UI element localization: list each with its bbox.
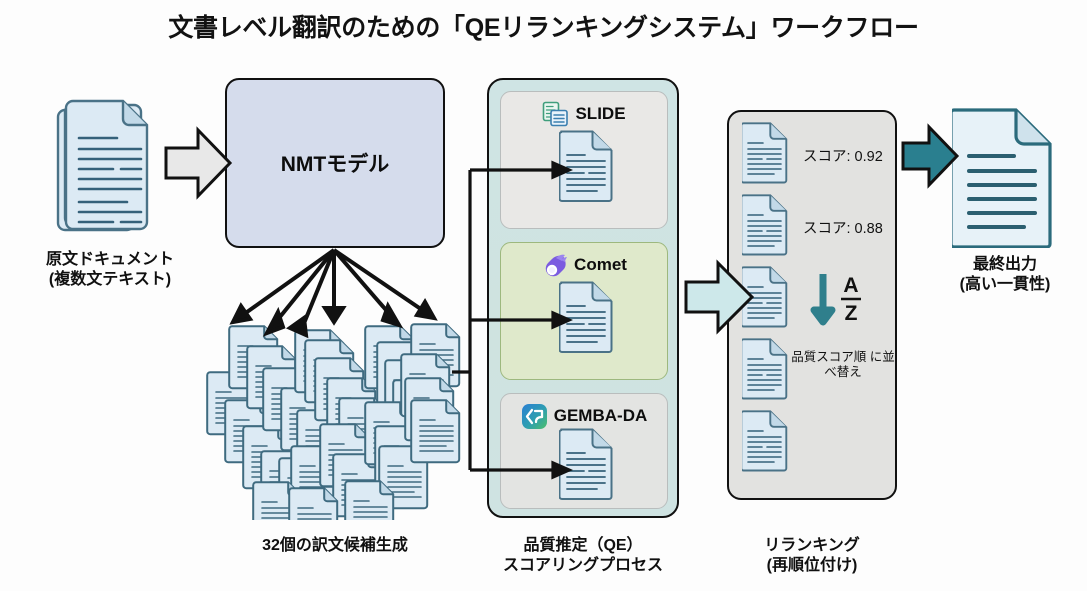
diagram-canvas: 文書レベル翻訳のための「QEリランキングシステム」ワークフロー (0, 0, 1087, 591)
candidates-caption: 32個の訳文候補生成 (215, 536, 455, 556)
sort-az-descending-icon: A Z (807, 270, 877, 348)
qe-metric-comet[interactable]: Comet (500, 242, 668, 380)
qe-scoring-panel: SLIDE (487, 78, 679, 518)
qe-metric-slide-label: SLIDE (575, 104, 625, 124)
svg-text:A: A (843, 274, 858, 297)
qe-metric-slide[interactable]: SLIDE (500, 91, 668, 229)
qe-metric-gemba-da-label: GEMBA-DA (554, 406, 648, 426)
rerank-document (742, 338, 788, 400)
gemba-code-icon (521, 403, 548, 430)
page-title: 文書レベル翻訳のための「QEリランキングシステム」ワークフロー (0, 8, 1087, 44)
rerank-caption: リランキング (再順位付け) (722, 536, 902, 576)
stacked-document-icon (55, 98, 160, 238)
rerank-document (742, 410, 788, 472)
final-document-icon (952, 108, 1052, 248)
gemba-scored-document (559, 428, 613, 500)
score-value-2: スコア: 0.88 (803, 217, 883, 238)
svg-text:Z: Z (845, 302, 858, 325)
arrow-source-to-nmt (166, 130, 230, 196)
qe-metric-gemba-da[interactable]: GEMBA-DA (500, 393, 668, 509)
reranking-panel: スコア: 0.92 スコア: 0.88 A Z 品質スコア順 に並べ替え (727, 110, 897, 500)
slide-scored-document (559, 130, 613, 202)
rerank-document (742, 122, 788, 184)
comet-icon (541, 252, 568, 279)
slide-documents-icon (542, 101, 569, 128)
score-value-1: スコア: 0.92 (803, 145, 883, 166)
arrow-rerank-to-output (903, 127, 957, 185)
final-output-caption: 最終出力 (高い一貫性) (930, 255, 1080, 295)
nmt-model-label: NMTモデル (281, 148, 390, 178)
qe-panel-caption: 品質推定（QE） スコアリングプロセス (478, 536, 688, 576)
source-document-caption: 原文ドキュメント (複数文テキスト) (15, 250, 205, 290)
rerank-document (742, 266, 788, 328)
comet-scored-document (559, 281, 613, 353)
nmt-model-box[interactable]: NMTモデル (225, 78, 445, 248)
sort-note-label: 品質スコア順 に並べ替え (791, 350, 895, 380)
qe-metric-comet-label: Comet (574, 255, 627, 275)
rerank-document (742, 194, 788, 256)
document-pile-icon (195, 305, 463, 520)
